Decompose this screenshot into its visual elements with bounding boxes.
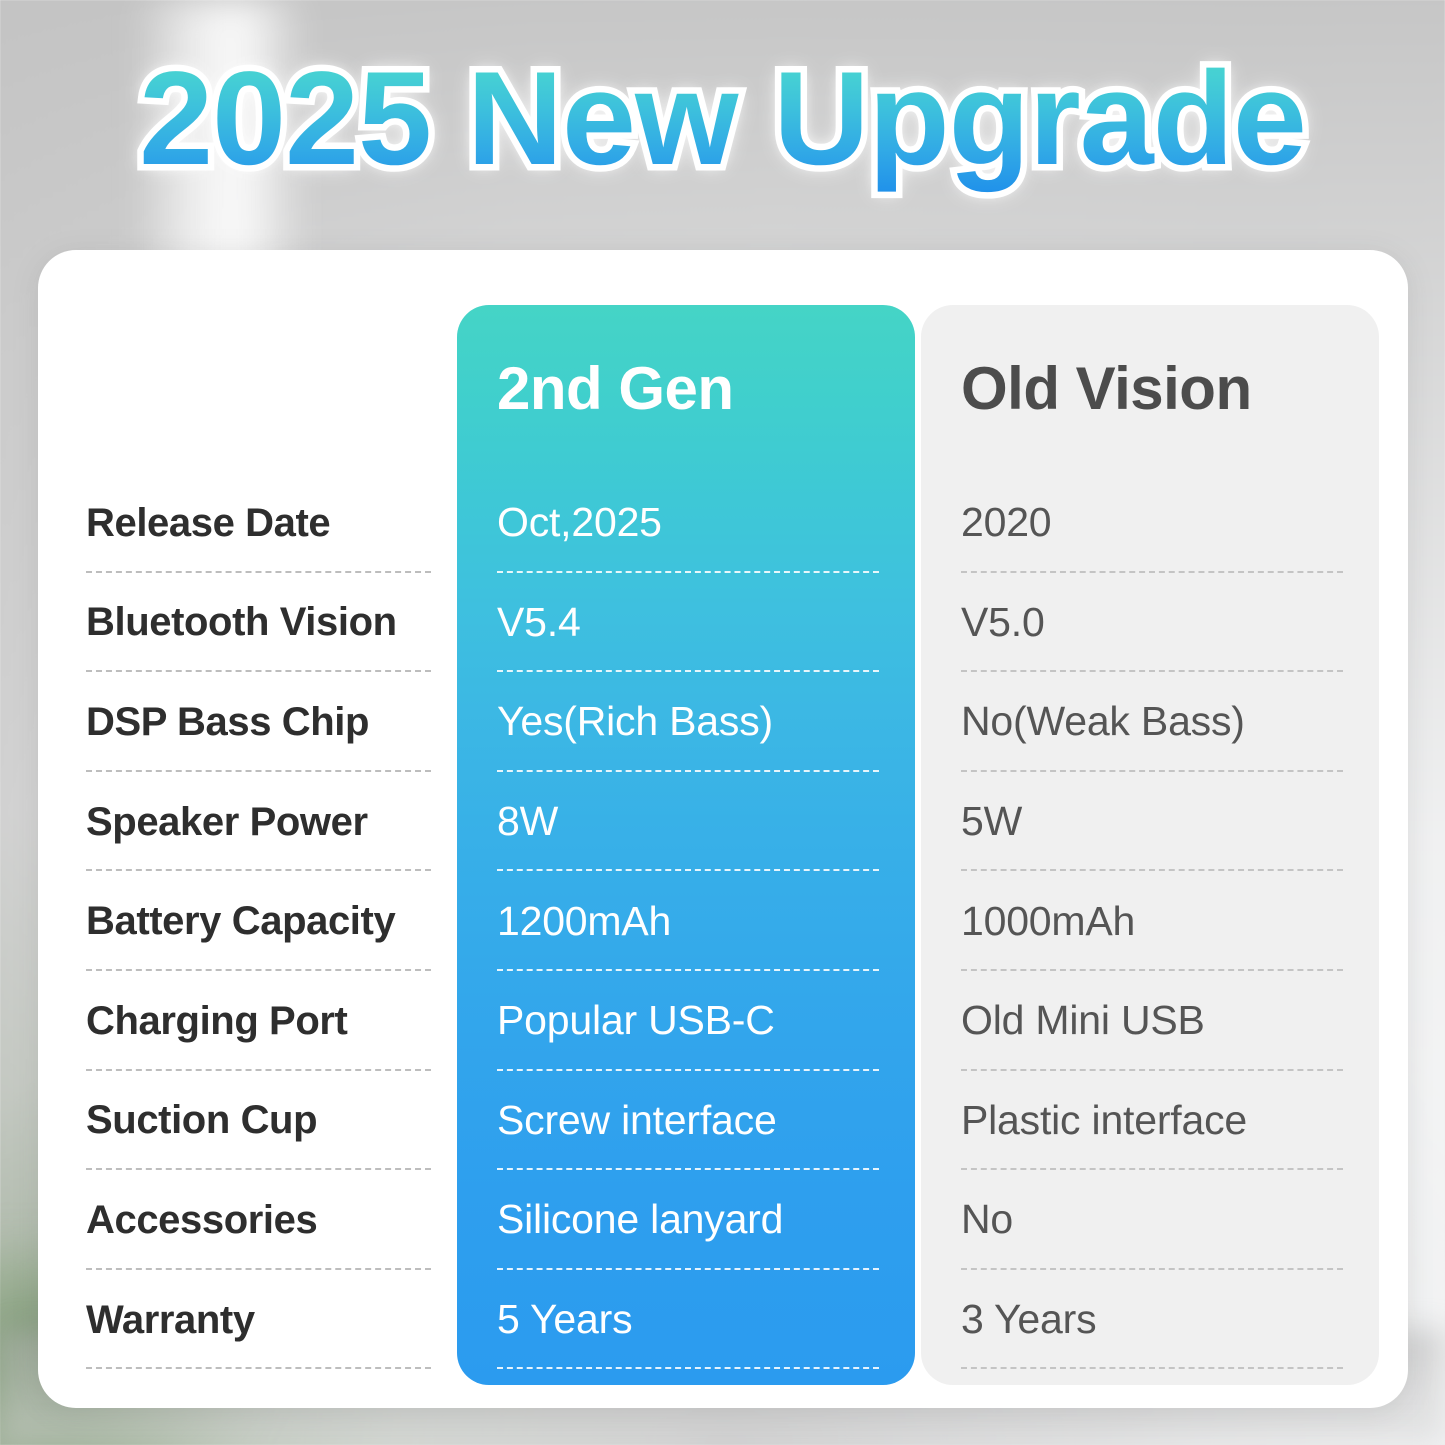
table-row: 8W	[497, 772, 891, 872]
old-version-value: 1000mAh	[961, 901, 1135, 942]
comparison-table: Release Date Bluetooth Vision DSP Bass C…	[38, 250, 1408, 1408]
new-generation-header-label: 2nd Gen	[497, 359, 734, 419]
table-row: Warranty	[86, 1270, 437, 1370]
table-row: Old Mini USB	[961, 971, 1355, 1071]
feature-label: DSP Bass Chip	[86, 702, 369, 742]
feature-label: Accessories	[86, 1200, 317, 1240]
feature-label: Suction Cup	[86, 1100, 317, 1140]
old-version-value: 5W	[961, 801, 1022, 842]
table-row: Yes(Rich Bass)	[497, 672, 891, 772]
table-row: 3 Years	[961, 1270, 1355, 1370]
headline: 2025 New Upgrade 2025 New Upgrade	[0, 48, 1445, 192]
new-generation-value: 8W	[497, 801, 558, 842]
feature-rows: Release Date Bluetooth Vision DSP Bass C…	[86, 473, 437, 1369]
old-version-column: Old Vision 2020 V5.0 No(Weak Bass) 5W 10…	[921, 305, 1379, 1385]
new-generation-value: Screw interface	[497, 1100, 777, 1141]
new-generation-value: Yes(Rich Bass)	[497, 701, 773, 742]
old-version-value: No(Weak Bass)	[961, 701, 1245, 742]
new-generation-value: 1200mAh	[497, 901, 671, 942]
table-row: 1000mAh	[961, 871, 1355, 971]
table-row: Battery Capacity	[86, 871, 437, 971]
new-generation-column: 2nd Gen Oct,2025 V5.4 Yes(Rich Bass) 8W …	[457, 305, 915, 1385]
headline-text: 2025 New Upgrade 2025 New Upgrade	[139, 48, 1306, 192]
new-generation-rows: Oct,2025 V5.4 Yes(Rich Bass) 8W 1200mAh …	[497, 473, 891, 1369]
table-row: Speaker Power	[86, 772, 437, 872]
feature-label: Bluetooth Vision	[86, 602, 397, 642]
table-row: Oct,2025	[497, 473, 891, 573]
table-row: Release Date	[86, 473, 437, 573]
table-row: Screw interface	[497, 1071, 891, 1171]
row-separator	[961, 1367, 1343, 1369]
table-row: Bluetooth Vision	[86, 573, 437, 673]
old-version-value: No	[961, 1199, 1013, 1240]
table-row: Accessories	[86, 1170, 437, 1270]
old-version-value: 3 Years	[961, 1299, 1096, 1340]
table-row: No(Weak Bass)	[961, 672, 1355, 772]
table-row: 2020	[961, 473, 1355, 573]
headline-gradient-layer: 2025 New Upgrade	[139, 45, 1306, 193]
new-generation-value: Oct,2025	[497, 502, 662, 543]
table-row: Charging Port	[86, 971, 437, 1071]
new-generation-value: Popular USB-C	[497, 1000, 775, 1041]
feature-label: Battery Capacity	[86, 901, 395, 941]
old-version-column-header: Old Vision	[961, 305, 1355, 473]
old-version-value: Old Mini USB	[961, 1000, 1205, 1041]
table-row: No	[961, 1170, 1355, 1270]
table-row: Popular USB-C	[497, 971, 891, 1071]
feature-label: Release Date	[86, 503, 330, 543]
feature-column-header	[86, 250, 437, 473]
old-version-value: 2020	[961, 502, 1051, 543]
row-separator	[497, 1367, 879, 1369]
table-row: 1200mAh	[497, 871, 891, 971]
table-row: Suction Cup	[86, 1071, 437, 1171]
table-row: Silicone lanyard	[497, 1170, 891, 1270]
table-row: 5 Years	[497, 1270, 891, 1370]
feature-label: Warranty	[86, 1300, 255, 1340]
new-generation-value: Silicone lanyard	[497, 1199, 783, 1240]
row-separator	[86, 1367, 431, 1369]
table-row: V5.4	[497, 573, 891, 673]
old-version-header-label: Old Vision	[961, 359, 1252, 419]
table-row: 5W	[961, 772, 1355, 872]
new-generation-column-header: 2nd Gen	[497, 305, 891, 473]
feature-label: Charging Port	[86, 1001, 347, 1041]
new-generation-value: V5.4	[497, 602, 581, 643]
feature-column: Release Date Bluetooth Vision DSP Bass C…	[38, 250, 457, 1408]
table-row: DSP Bass Chip	[86, 672, 437, 772]
old-version-value: V5.0	[961, 602, 1045, 643]
old-version-rows: 2020 V5.0 No(Weak Bass) 5W 1000mAh Old M…	[961, 473, 1355, 1369]
feature-label: Speaker Power	[86, 802, 368, 842]
table-row: Plastic interface	[961, 1071, 1355, 1171]
table-row: V5.0	[961, 573, 1355, 673]
old-version-value: Plastic interface	[961, 1100, 1247, 1141]
new-generation-value: 5 Years	[497, 1299, 632, 1340]
